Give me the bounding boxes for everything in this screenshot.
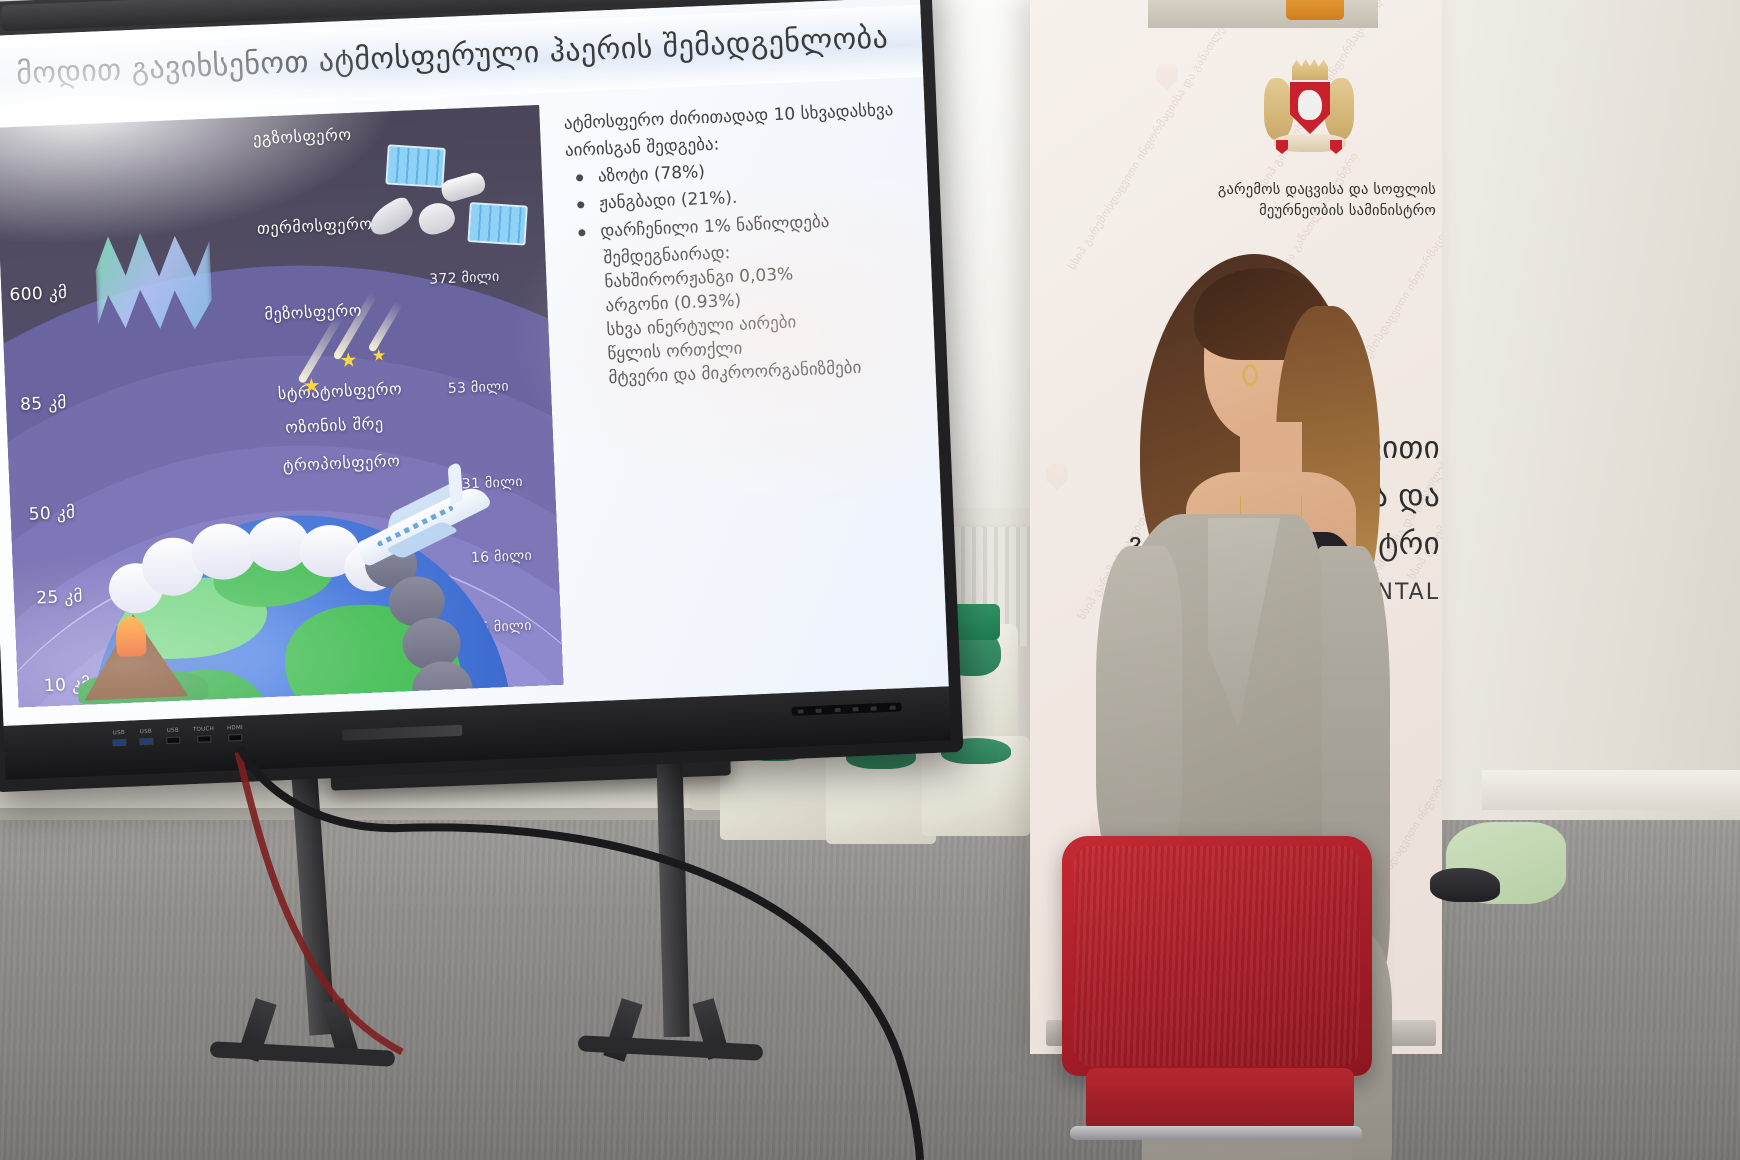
km-label-50: 50 კმ: [28, 503, 75, 525]
bullet-text: აზოტი (78%): [598, 162, 706, 186]
shelf-object: [1286, 0, 1344, 20]
bullet-icon: [578, 229, 585, 236]
port-touch[interactable]: TOUCH: [193, 726, 215, 743]
interactive-whiteboard[interactable]: მოდით გავიხსენოთ ატმოსფერული ჰაერის შემა…: [0, 0, 985, 822]
room-scene: მოდით გავიხსენოთ ატმოსფერული ჰაერის შემა…: [0, 0, 1740, 1160]
port-usb-3[interactable]: USB: [166, 728, 181, 745]
chair-backrest: [1062, 836, 1372, 1076]
watermark-crest-icon: [1156, 64, 1178, 90]
touch-port-icon: [197, 735, 211, 743]
shoe: [1430, 868, 1500, 902]
ministry-line-2: მეურნეობის სამინისტრო: [1106, 201, 1436, 222]
red-chair[interactable]: [1062, 836, 1372, 1160]
port-usb-2[interactable]: USB: [139, 729, 154, 746]
watermark-crest-icon: [1046, 464, 1068, 490]
bullet-icon: [576, 174, 583, 181]
mile-label-53: 53 მილი: [448, 378, 510, 397]
side-table: [1482, 770, 1740, 810]
composition-bullet-list: აზოტი (78%) ჟანგბადი (21%). დარჩენილი 1%…: [566, 152, 919, 245]
bullet-text: ჟანგბადი (21%).: [599, 188, 738, 214]
km-label-600: 600 კმ: [9, 283, 68, 305]
left-arm: [1096, 546, 1182, 876]
chair-frame: [1070, 1126, 1362, 1140]
bullet-icon: [577, 202, 584, 209]
usb-icon: [112, 739, 126, 747]
port-hdmi[interactable]: HDMI: [227, 725, 244, 742]
ministry-line-1: გარემოს დაცვისა და სოფლის: [1106, 180, 1436, 201]
board-screen[interactable]: მოდით გავიხსენოთ ატმოსფერული ჰაერის შემა…: [0, 0, 949, 726]
hdmi-icon: [228, 734, 242, 742]
port-usb-1[interactable]: USB: [112, 730, 127, 747]
chair-seat: [1086, 1068, 1354, 1132]
presentation-slide: მოდით გავიხსენოთ ატმოსფერული ჰაერის შემა…: [0, 0, 949, 726]
banner-ministry-name: გარემოს დაცვისა და სოფლის მეურნეობის სამ…: [1106, 180, 1436, 222]
km-label-85: 85 კმ: [20, 393, 67, 415]
earring: [1242, 364, 1258, 386]
usb-icon: [166, 737, 180, 745]
meteor-icon: [292, 285, 437, 421]
atmosphere-diagram: ეგზოსფერო თერმოსფერო მეზოსფერო სტრატოსფე…: [0, 105, 563, 707]
wall-right-panel: [1420, 0, 1740, 900]
bullet-text: დარჩენილი 1% ნაწილდება: [600, 211, 830, 241]
coat-of-arms-icon: [1262, 56, 1358, 166]
slide-text-block: ატმოსფერო ძირითადად 10 სხვადასხვა აირისგ…: [563, 97, 924, 392]
usb-icon: [139, 738, 153, 746]
